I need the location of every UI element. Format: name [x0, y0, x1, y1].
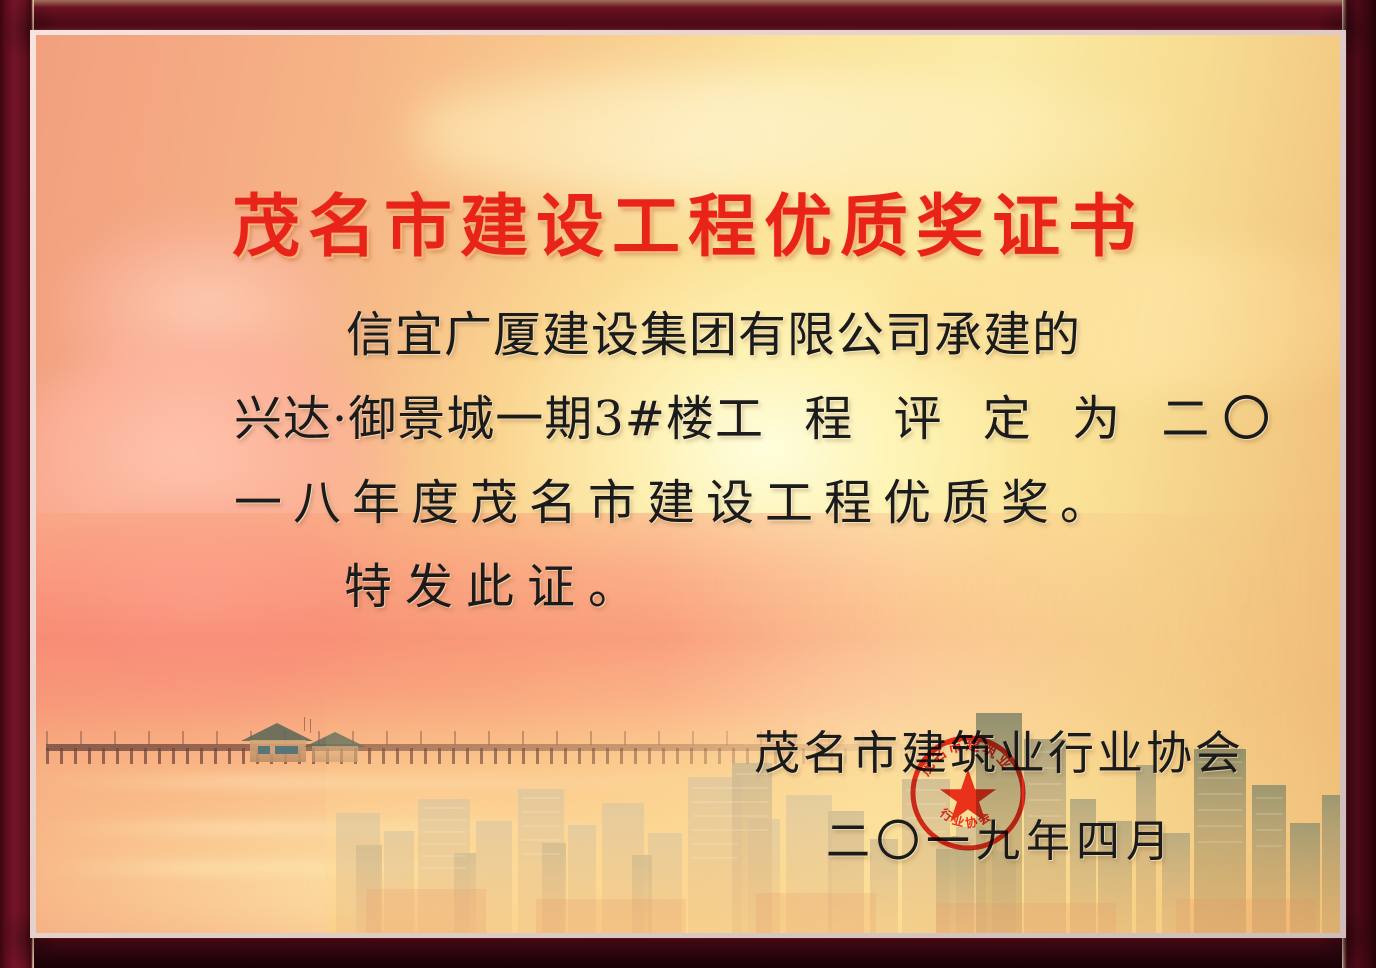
- official-seal: 茂名市建筑业 行业协会: [908, 733, 1028, 853]
- certificate-plaque: 茂名市建设工程优质奖证书 信宜广厦建设集团有限公司承建的 兴达·御景城一期3#楼…: [0, 0, 1376, 968]
- body-line-1: 信宜广厦建设集团有限公司承建的: [226, 293, 1226, 377]
- frame-edge-right: [1342, 0, 1376, 968]
- svg-text:茂名市建筑业: 茂名市建筑业: [916, 736, 1015, 779]
- pavilion-house-windows: [258, 746, 298, 754]
- pavilion-house-roof: [241, 723, 313, 741]
- body-line-2-spaced: 工 程 评 定 为 二〇: [715, 391, 1283, 447]
- body-line-2: 兴达·御景城一期3#楼工 程 评 定 为 二〇: [226, 377, 1226, 461]
- body-line-3: 一八年度茂名市建设工程优质奖。: [226, 461, 1226, 545]
- frame-edge-left: [0, 0, 34, 968]
- certificate-body: 信宜广厦建设集团有限公司承建的 兴达·御景城一期3#楼工 程 评 定 为 二〇 …: [226, 293, 1226, 629]
- certificate-title: 茂名市建设工程优质奖证书: [36, 171, 1340, 270]
- project-name: 兴达·御景城一期3#楼: [234, 391, 715, 447]
- body-line-4: 特发此证。: [226, 545, 1226, 629]
- frame-edge-top: [0, 0, 1376, 34]
- certificate-face: 茂名市建设工程优质奖证书 信宜广厦建设集团有限公司承建的 兴达·御景城一期3#楼…: [36, 35, 1340, 933]
- frame-edge-bottom: [0, 934, 1376, 968]
